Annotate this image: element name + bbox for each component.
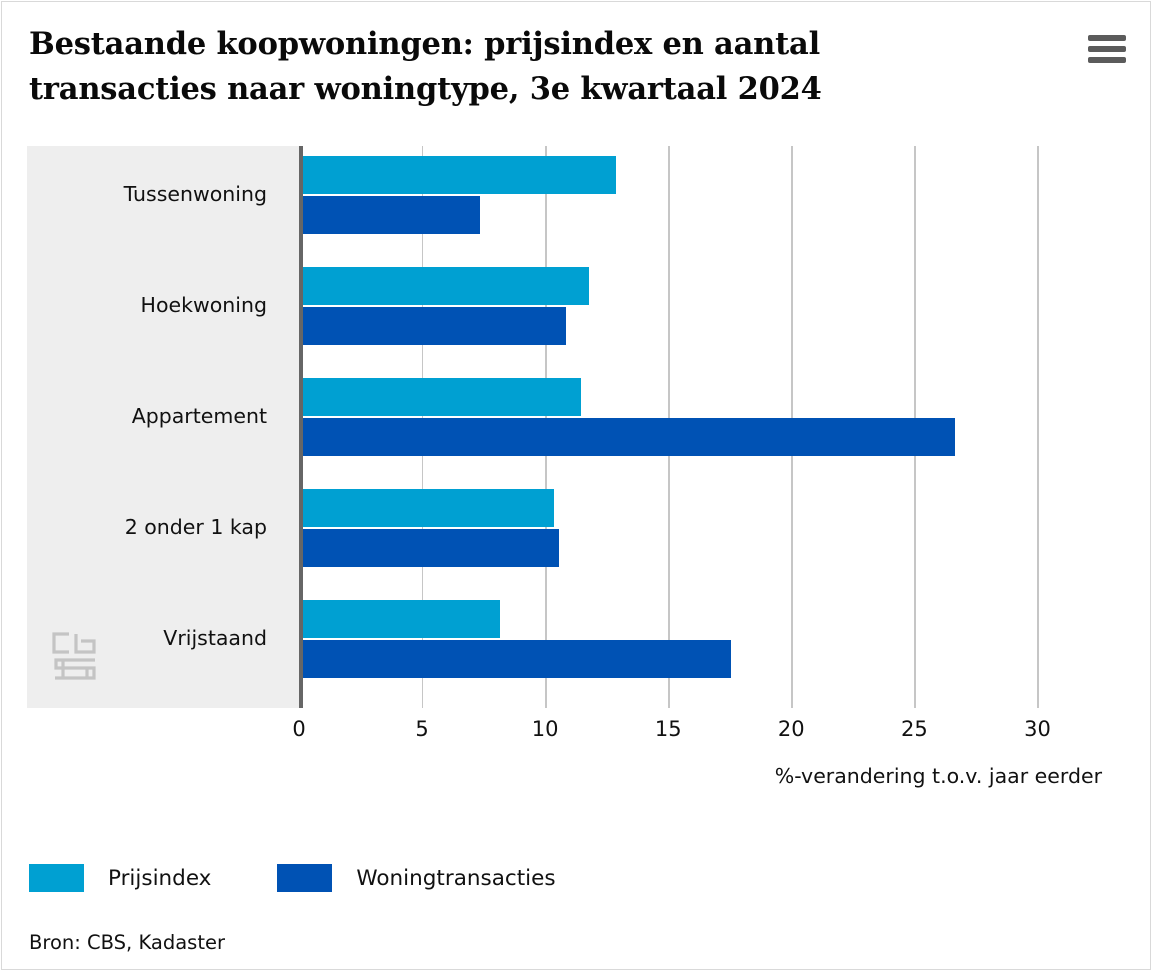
bar-prijsindex-tussenwoning[interactable]: [303, 156, 616, 194]
category-axis-panel: TussenwoningHoekwoningAppartement2 onder…: [27, 146, 299, 708]
x-tick-label: 30: [1024, 717, 1051, 741]
chart-header: Bestaande koopwoningen: prijsindex en aa…: [2, 2, 1150, 132]
legend-item-woningtransacties[interactable]: Woningtransacties: [277, 864, 555, 892]
bar-prijsindex-2-onder-1-kap[interactable]: [303, 489, 554, 527]
category-label-vrijstaand: Vrijstaand: [37, 628, 267, 648]
bar-woningtransacties-vrijstaand[interactable]: [303, 640, 731, 678]
chart-canvas: TussenwoningHoekwoningAppartement2 onder…: [2, 132, 1152, 832]
category-label-tussenwoning: Tussenwoning: [37, 184, 267, 204]
x-tick-label: 10: [532, 717, 559, 741]
gridline: [1037, 146, 1038, 708]
chart-frame: Bestaande koopwoningen: prijsindex en aa…: [1, 1, 1151, 970]
legend-label: Woningtransacties: [356, 866, 555, 891]
hamburger-bar: [1088, 57, 1126, 63]
x-tick-label: 20: [778, 717, 805, 741]
legend-swatch: [277, 864, 332, 892]
bar-prijsindex-hoekwoning[interactable]: [303, 267, 589, 305]
bar-woningtransacties-2-onder-1-kap[interactable]: [303, 529, 559, 567]
x-tick-label: 0: [292, 717, 305, 741]
x-tick-label: 15: [655, 717, 682, 741]
bar-prijsindex-vrijstaand[interactable]: [303, 600, 500, 638]
bar-woningtransacties-appartement[interactable]: [303, 418, 955, 456]
x-axis-title: %-verandering t.o.v. jaar eerder: [775, 764, 1102, 788]
hamburger-bar: [1088, 46, 1126, 52]
legend-label: Prijsindex: [108, 866, 211, 891]
page-title: Bestaande koopwoningen: prijsindex en aa…: [29, 22, 1029, 112]
bar-woningtransacties-tussenwoning[interactable]: [303, 196, 480, 234]
category-label-appartement: Appartement: [37, 406, 267, 426]
x-tick-label: 5: [415, 717, 428, 741]
x-tick-label: 25: [901, 717, 928, 741]
hamburger-menu-icon[interactable]: [1086, 32, 1128, 66]
bar-prijsindex-appartement[interactable]: [303, 378, 581, 416]
chart-legend: PrijsindexWoningtransacties: [29, 864, 622, 892]
legend-swatch: [29, 864, 84, 892]
bar-woningtransacties-hoekwoning[interactable]: [303, 307, 566, 345]
legend-item-prijsindex[interactable]: Prijsindex: [29, 864, 211, 892]
category-label-hoekwoning: Hoekwoning: [37, 295, 267, 315]
category-label-2-onder-1-kap: 2 onder 1 kap: [37, 517, 267, 537]
plot-area: [299, 146, 1099, 708]
source-note: Bron: CBS, Kadaster: [29, 931, 225, 954]
hamburger-bar: [1088, 35, 1126, 41]
